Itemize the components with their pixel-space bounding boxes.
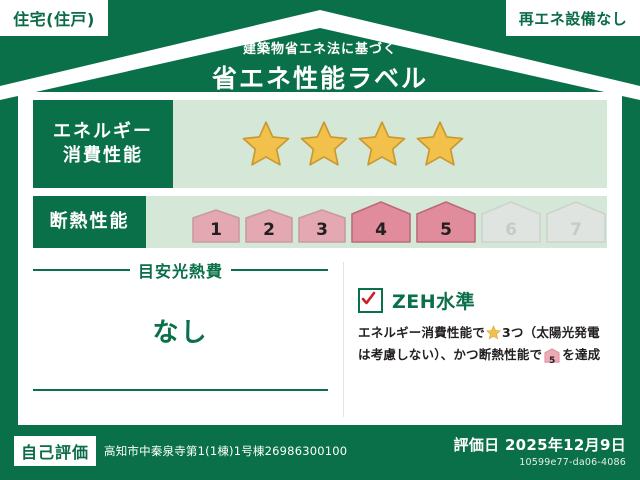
insulation-level-label: 4 <box>350 220 412 240</box>
house-icon-inline-value: 5 <box>544 354 560 370</box>
badge-building-type-label: 住宅(住戸) <box>13 6 95 30</box>
star-rating <box>173 119 465 169</box>
insulation-level-5: 5 <box>415 201 477 243</box>
energy-performance-value <box>173 100 607 188</box>
check-icon <box>361 291 376 306</box>
utility-cost-heading: 目安光熱費 <box>33 258 328 282</box>
star-icon-inline <box>486 325 501 340</box>
insulation-performance-value: 1234567 <box>146 196 607 248</box>
insulation-performance-label-text: 断熱性能 <box>50 210 130 234</box>
content-panel: エネルギー 消費性能 断熱性能 1234567 目安光熱費 なし <box>18 92 622 425</box>
zeh-heading: ZEH水準 <box>358 287 613 314</box>
insulation-level-label: 1 <box>191 220 241 240</box>
zeh-description: エネルギー消費性能で3つ（太陽光発電は考慮しない）、かつ断熱性能で5を達成 <box>358 322 613 370</box>
panel-divider <box>343 262 344 417</box>
insulation-performance-label: 断熱性能 <box>33 196 146 248</box>
utility-cost-block: 目安光熱費 なし <box>33 258 328 349</box>
insulation-level-2: 2 <box>244 209 294 243</box>
property-address: 高知市中秦泉寺第1(1棟)1号棟26986300100 <box>104 443 347 459</box>
zeh-desc-part2: は考慮しない）、かつ断熱性能で <box>358 347 542 362</box>
house-icon-inline: 5 <box>544 348 560 370</box>
insulation-level-label: 3 <box>297 220 347 240</box>
energy-performance-label-line1: エネルギー <box>53 120 153 144</box>
zeh-desc-star-count: 3つ（太陽光発電 <box>502 325 600 340</box>
zeh-desc-part3: を達成 <box>562 347 600 362</box>
badge-building-type: 住宅(住戸) <box>0 0 108 36</box>
utility-cost-value: なし <box>33 312 328 349</box>
insulation-level-label: 6 <box>480 220 542 240</box>
footer-right: 評価日 2025年12月9日 10599e77-da06-4086 <box>454 434 626 468</box>
badge-renewable-energy-label: 再エネ設備なし <box>519 8 628 29</box>
zeh-desc-part1: エネルギー消費性能で <box>358 325 485 340</box>
star-icon <box>299 119 349 169</box>
insulation-level-6: 6 <box>480 201 542 243</box>
footer-left: 自己評価 高知市中秦泉寺第1(1棟)1号棟26986300100 <box>14 436 347 466</box>
star-icon <box>241 119 291 169</box>
evaluation-id: 10599e77-da06-4086 <box>454 457 626 468</box>
evaluation-date: 評価日 2025年12月9日 <box>454 434 626 455</box>
star-icon <box>357 119 407 169</box>
insulation-level-4: 4 <box>350 201 412 243</box>
insulation-scale: 1234567 <box>146 201 607 243</box>
energy-performance-row: エネルギー 消費性能 <box>33 100 607 188</box>
energy-performance-label-line2: 消費性能 <box>63 144 143 168</box>
insulation-level-1: 1 <box>191 209 241 243</box>
insulation-level-label: 7 <box>545 220 607 240</box>
utility-cost-bottom-rule <box>33 389 328 391</box>
rule-left <box>33 269 130 271</box>
insulation-level-7: 7 <box>545 201 607 243</box>
self-evaluation-badge: 自己評価 <box>14 436 96 466</box>
star-icon <box>415 119 465 169</box>
insulation-level-3: 3 <box>297 209 347 243</box>
footer: 自己評価 高知市中秦泉寺第1(1棟)1号棟26986300100 評価日 202… <box>0 428 640 480</box>
utility-cost-title: 目安光熱費 <box>138 258 223 282</box>
insulation-level-label: 5 <box>415 220 477 240</box>
badge-renewable-energy: 再エネ設備なし <box>506 0 640 36</box>
insulation-performance-row: 断熱性能 1234567 <box>33 196 607 248</box>
energy-performance-label: エネルギー 消費性能 <box>33 100 173 188</box>
zeh-block: ZEH水準 エネルギー消費性能で3つ（太陽光発電は考慮しない）、かつ断熱性能で5… <box>358 287 613 370</box>
zeh-title: ZEH水準 <box>392 287 475 314</box>
insulation-level-label: 2 <box>244 220 294 240</box>
zeh-checkbox[interactable] <box>358 288 383 313</box>
rule-right <box>231 269 328 271</box>
